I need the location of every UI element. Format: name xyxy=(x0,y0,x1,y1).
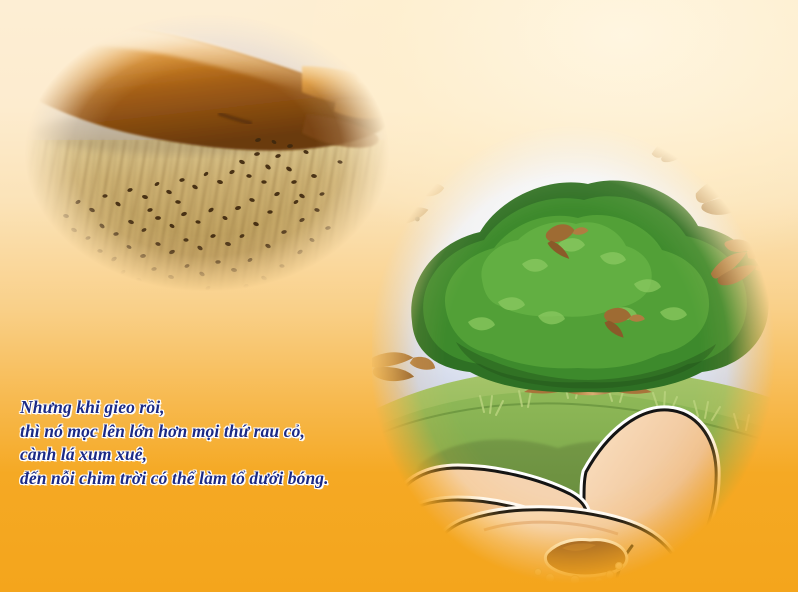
mustard-tree-illustration xyxy=(372,116,798,592)
verse-line-4: đến nỗi chim trời có thể làm tổ dưới bón… xyxy=(20,467,392,491)
sower-scattering-seed-photo xyxy=(6,4,408,314)
illustration-artwork xyxy=(372,116,798,592)
verse-line-2: thì nó mọc lên lớn hơn mọi thứ rau cỏ, xyxy=(20,420,392,444)
scripture-verse: Nhưng khi gieo rồi, thì nó mọc lên lớn h… xyxy=(20,396,392,490)
verse-line-1: Nhưng khi gieo rồi, xyxy=(20,396,392,420)
photo-seeds xyxy=(23,137,343,299)
verse-line-3: cành lá xum xuê, xyxy=(20,443,392,467)
slide-canvas: Nhưng khi gieo rồi, thì nó mọc lên lớn h… xyxy=(0,0,798,592)
photo-artwork xyxy=(6,4,408,314)
